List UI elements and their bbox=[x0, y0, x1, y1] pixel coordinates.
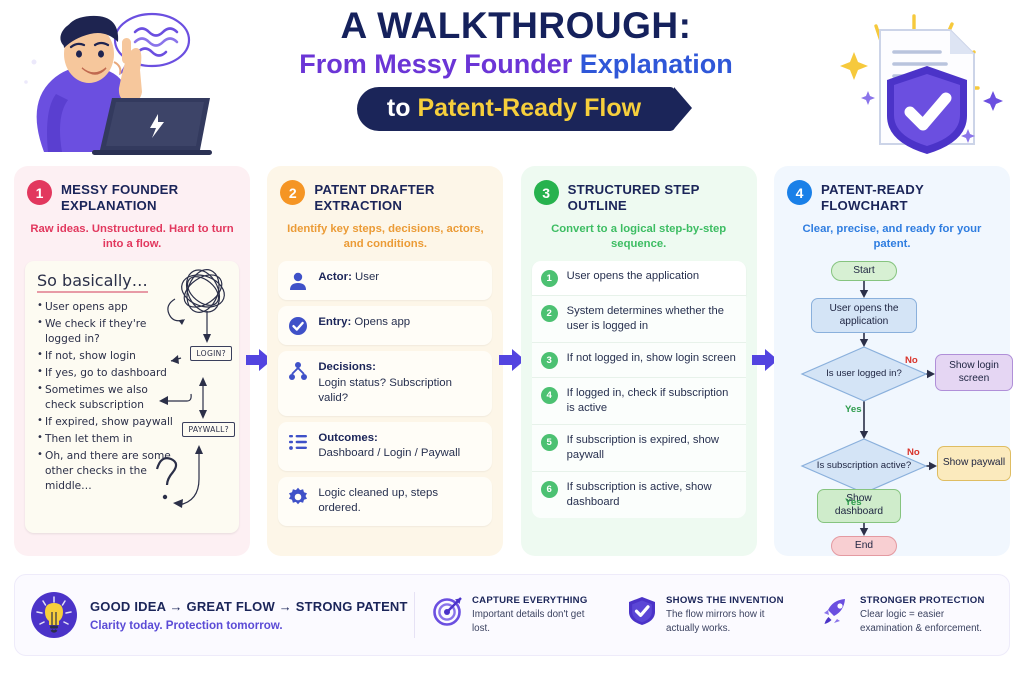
list-item: Actor: User bbox=[278, 261, 492, 300]
infographic-page: A WALKTHROUGH: From Messy Founder Explan… bbox=[0, 0, 1024, 683]
benefit-text: CAPTURE EVERYTHING Important details don… bbox=[472, 595, 605, 635]
card-subtitle: Convert to a logical step-by-step sequen… bbox=[536, 222, 742, 252]
footer-bar: GOOD IDEA → GREAT FLOW → STRONG PATENT C… bbox=[14, 574, 1010, 656]
person-icon bbox=[288, 271, 308, 291]
row-text: Entry: Opens app bbox=[318, 315, 410, 331]
card-header: 4 PATENT-READY FLOWCHART bbox=[785, 178, 999, 214]
target-icon bbox=[433, 596, 463, 626]
footer-main: GOOD IDEA → GREAT FLOW → STRONG PATENT C… bbox=[31, 592, 414, 638]
row-text: Outcomes:Dashboard / Login / Paywall bbox=[318, 431, 460, 462]
step-badge-4: 4 bbox=[787, 180, 812, 205]
flow-node-open-app: User opens the application bbox=[811, 298, 917, 333]
ribbon-prefix: to bbox=[387, 94, 418, 122]
arrow-gap-1-2 bbox=[250, 166, 267, 556]
title-ribbon: to Patent-Ready Flow bbox=[357, 87, 675, 131]
step-text: User opens the application bbox=[567, 269, 699, 284]
card-messy-founder-explanation: 1 MESSY FOUNDER EXPLANATION Raw ideas. U… bbox=[14, 166, 250, 556]
title-block: A WALKTHROUGH: From Messy Founder Explan… bbox=[226, 6, 806, 131]
benefit-heading: STRONGER PROTECTION bbox=[860, 595, 993, 606]
card-title: STRUCTURED STEP OUTLINE bbox=[568, 180, 746, 214]
step-text: If logged in, check if subscription is a… bbox=[567, 386, 738, 416]
row-label: Entry: bbox=[318, 316, 351, 328]
step-number: 3 bbox=[541, 352, 558, 369]
doodle-tag-paywall: PAYWALL? bbox=[182, 422, 235, 437]
arrow-gap-2-3 bbox=[503, 166, 520, 556]
benefit-heading: CAPTURE EVERYTHING bbox=[472, 595, 605, 606]
shield-check-icon bbox=[627, 596, 657, 626]
patent-document-shield-illustration bbox=[828, 4, 1018, 156]
footer-main-text: GOOD IDEA → GREAT FLOW → STRONG PATENT C… bbox=[90, 599, 408, 632]
flow-edge-label-no-2: No bbox=[907, 447, 920, 458]
footer-divider bbox=[414, 592, 415, 638]
footer-benefit-shows-the-invention: SHOWS THE INVENTION The flow mirrors how… bbox=[627, 595, 799, 635]
list-icon bbox=[288, 432, 308, 452]
row-label: Actor: bbox=[318, 271, 352, 283]
founder-at-laptop-illustration bbox=[4, 2, 214, 160]
step-number: 5 bbox=[541, 434, 558, 451]
card-patent-drafter-extraction: 2 PATENT DRAFTER EXTRACTION Identify key… bbox=[267, 166, 503, 556]
list-item: 5 If subscription is expired, show paywa… bbox=[532, 425, 746, 472]
card-patent-ready-flowchart: 4 PATENT-READY FLOWCHART Clear, precise,… bbox=[774, 166, 1010, 556]
handwritten-note: So basically… User opens app We check if… bbox=[25, 261, 239, 533]
list-item: Logic cleaned up, steps ordered. bbox=[278, 477, 492, 526]
card-title: MESSY FOUNDER EXPLANATION bbox=[61, 180, 239, 214]
benefit-body: The flow mirrors how it actually works. bbox=[666, 608, 799, 635]
step-number: 4 bbox=[541, 387, 558, 404]
step-number: 2 bbox=[541, 305, 558, 322]
step-badge-3: 3 bbox=[534, 180, 559, 205]
card-subtitle: Identify key steps, decisions, actors, a… bbox=[282, 222, 488, 252]
extraction-list: Actor: User Entry: Opens app bbox=[278, 261, 492, 526]
list-item: 4 If logged in, check if subscription is… bbox=[532, 378, 746, 425]
page-title-line2-b: Explanation bbox=[580, 49, 733, 79]
rocket-icon bbox=[821, 596, 851, 626]
flow-node-show-paywall: Show paywall bbox=[937, 446, 1011, 481]
footer-benefit-capture-everything: CAPTURE EVERYTHING Important details don… bbox=[433, 595, 605, 635]
benefit-text: STRONGER PROTECTION Clear logic = easier… bbox=[860, 595, 993, 635]
benefit-heading: SHOWS THE INVENTION bbox=[666, 595, 799, 606]
list-item: 2 System determines whether the user is … bbox=[532, 296, 746, 343]
page-title-line2: From Messy Founder Explanation bbox=[226, 49, 806, 80]
benefit-body: Important details don't get lost. bbox=[472, 608, 605, 635]
benefit-body: Clear logic = easier examination & enfor… bbox=[860, 608, 993, 635]
lightbulb-icon bbox=[31, 592, 77, 638]
footer-benefit-stronger-protection: STRONGER PROTECTION Clear logic = easier… bbox=[821, 595, 993, 635]
check-circle-icon bbox=[288, 316, 308, 336]
flow-node-start: Start bbox=[831, 261, 897, 281]
footer-headline: GOOD IDEA → GREAT FLOW → STRONG PATENT bbox=[90, 599, 408, 614]
card-header: 2 PATENT DRAFTER EXTRACTION bbox=[278, 178, 492, 214]
step-badge-1: 1 bbox=[27, 180, 52, 205]
list-item: Decisions:Login status? Subscription val… bbox=[278, 351, 492, 416]
flow-edge-label-yes-2: Yes bbox=[845, 497, 862, 508]
flowchart: Start User opens the application Is user… bbox=[785, 261, 999, 549]
step-list: 1 User opens the application 2 System de… bbox=[532, 261, 746, 518]
card-structured-step-outline: 3 STRUCTURED STEP OUTLINE Convert to a l… bbox=[521, 166, 757, 556]
header: A WALKTHROUGH: From Messy Founder Explan… bbox=[0, 0, 1024, 160]
step-text: If not logged in, show login screen bbox=[567, 351, 736, 366]
row-label: Outcomes: bbox=[318, 432, 378, 444]
row-text: Logic cleaned up, steps ordered. bbox=[318, 486, 483, 517]
note-heading: So basically… bbox=[37, 271, 148, 293]
ribbon-highlight: Patent-Ready Flow bbox=[417, 94, 641, 122]
flow-edge-label-yes-1: Yes bbox=[845, 404, 862, 415]
doodle-tag-login: LOGIN? bbox=[190, 346, 232, 361]
list-item: 1 User opens the application bbox=[532, 261, 746, 296]
steps-row: 1 MESSY FOUNDER EXPLANATION Raw ideas. U… bbox=[14, 166, 1010, 556]
list-item: Entry: Opens app bbox=[278, 306, 492, 345]
scribble-doodles bbox=[149, 265, 237, 527]
flow-edge-label-no-1: No bbox=[905, 355, 918, 366]
page-title-line2-a: From Messy Founder bbox=[299, 49, 580, 79]
row-value: Opens app bbox=[351, 316, 410, 328]
step-text: System determines whether the user is lo… bbox=[567, 304, 738, 334]
step-text: If subscription is expired, show paywall bbox=[567, 433, 738, 463]
gear-icon bbox=[288, 487, 308, 507]
flow-node-show-login: Show login screen bbox=[935, 354, 1013, 391]
card-title: PATENT-READY FLOWCHART bbox=[821, 180, 999, 214]
branch-nodes-icon bbox=[288, 361, 308, 381]
row-value: Login status? Subscription valid? bbox=[318, 377, 452, 405]
list-item: Outcomes:Dashboard / Login / Paywall bbox=[278, 422, 492, 471]
row-value: Dashboard / Login / Paywall bbox=[318, 447, 460, 459]
arrow-gap-3-4 bbox=[757, 166, 774, 556]
flow-node-end: End bbox=[831, 536, 897, 556]
card-header: 3 STRUCTURED STEP OUTLINE bbox=[532, 178, 746, 214]
list-item: 6 If subscription is active, show dashbo… bbox=[532, 472, 746, 518]
step-number: 1 bbox=[541, 270, 558, 287]
card-title: PATENT DRAFTER EXTRACTION bbox=[314, 180, 492, 214]
step-text: If subscription is active, show dashboar… bbox=[567, 480, 738, 510]
row-text: Decisions:Login status? Subscription val… bbox=[318, 360, 483, 407]
footer-benefits: CAPTURE EVERYTHING Important details don… bbox=[433, 595, 993, 635]
card-subtitle: Clear, precise, and ready for your paten… bbox=[789, 222, 995, 252]
footer-subline: Clarity today. Protection tomorrow. bbox=[90, 619, 408, 632]
row-text: Actor: User bbox=[318, 270, 379, 286]
row-value: Logic cleaned up, steps ordered. bbox=[318, 487, 438, 515]
card-subtitle: Raw ideas. Unstructured. Hard to turn in… bbox=[29, 222, 235, 252]
card-header: 1 MESSY FOUNDER EXPLANATION bbox=[25, 178, 239, 214]
row-value: User bbox=[352, 271, 379, 283]
benefit-text: SHOWS THE INVENTION The flow mirrors how… bbox=[666, 595, 799, 635]
list-item: 3 If not logged in, show login screen bbox=[532, 343, 746, 378]
step-badge-2: 2 bbox=[280, 180, 305, 205]
step-number: 6 bbox=[541, 481, 558, 498]
row-label: Decisions: bbox=[318, 361, 376, 373]
page-title-line1: A WALKTHROUGH: bbox=[226, 6, 806, 46]
